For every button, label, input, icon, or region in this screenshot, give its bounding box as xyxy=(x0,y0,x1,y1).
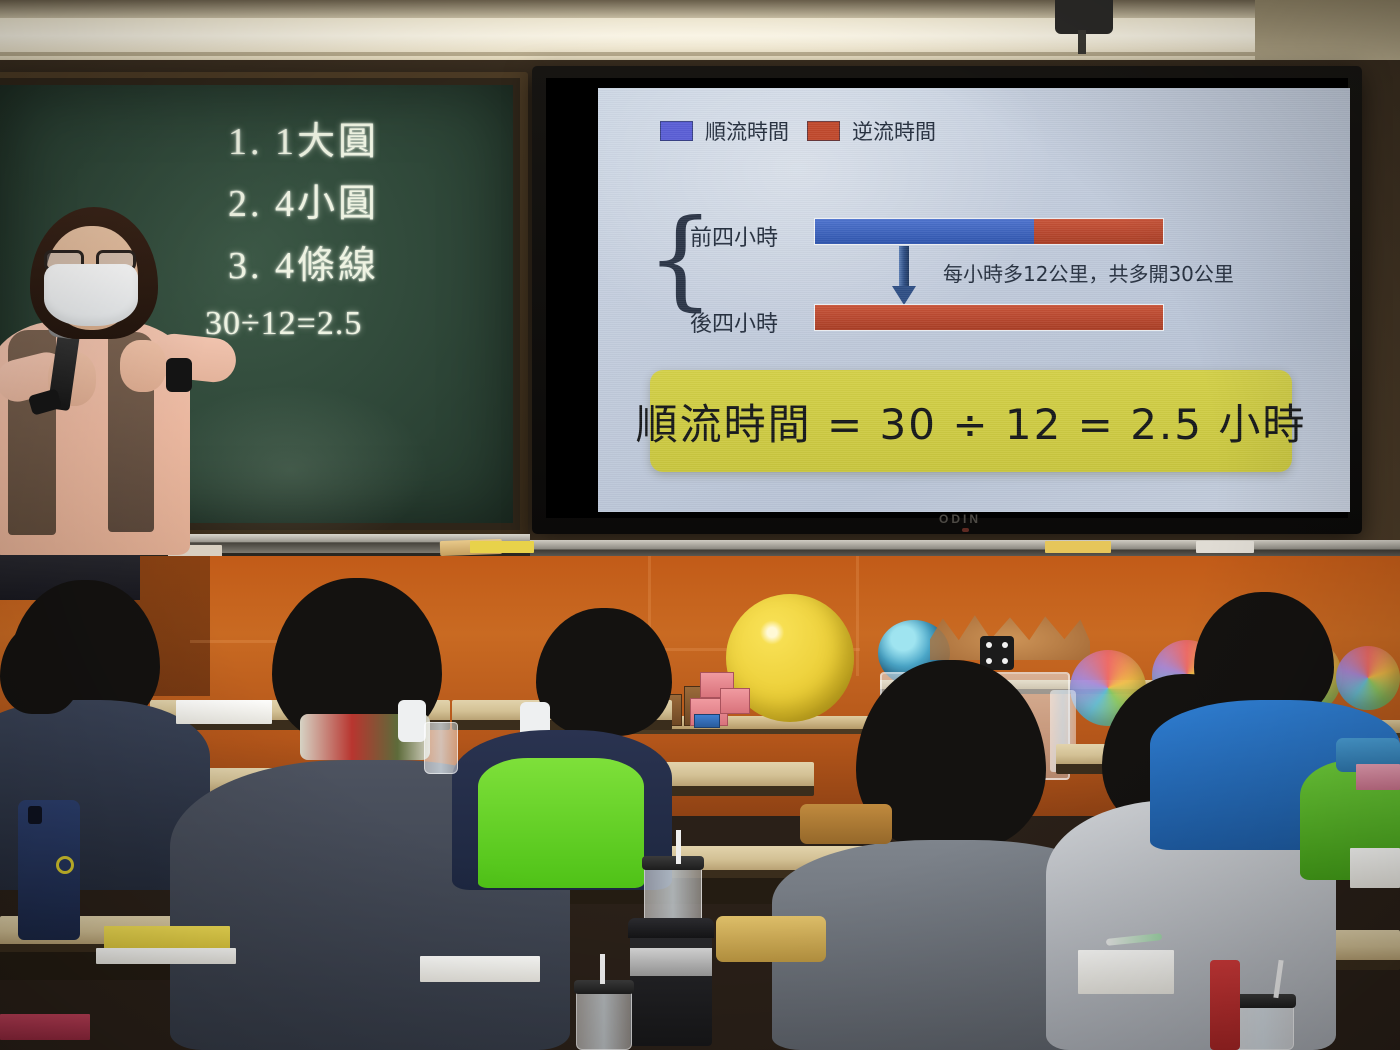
red-strap xyxy=(1210,960,1240,1050)
thermos-black xyxy=(630,920,712,1046)
chalkboard-line-4: 30÷12=2.5 xyxy=(205,305,362,343)
row-label-last-four-hours: 後四小時 xyxy=(690,306,778,338)
book-red xyxy=(0,1014,90,1040)
bar-segment-upstream-full xyxy=(815,305,1163,330)
chart-legend: 順流時間 逆流時間 xyxy=(660,116,936,146)
notebook-yellow xyxy=(104,926,230,950)
straw-lower-left xyxy=(600,954,605,984)
paper-stack xyxy=(96,948,236,964)
worksheet-row3 xyxy=(420,956,540,982)
bar-segment-upstream xyxy=(1034,219,1163,244)
projector-mount xyxy=(1055,0,1113,34)
chalkboard-sheen xyxy=(150,385,430,555)
tumbler-lower-left xyxy=(576,986,632,1050)
teacher-hand-right xyxy=(120,340,166,392)
dice xyxy=(980,636,1014,670)
student-mask xyxy=(398,700,426,742)
arrow-head xyxy=(892,286,916,305)
student-green-vest xyxy=(478,758,644,888)
cup-row1 xyxy=(424,722,458,774)
classroom-photo: 1. 1大圓 2. 4小圓 3. 4條線 30÷12=2.5 順流時間 逆流時間… xyxy=(0,0,1400,1050)
answer-box: 順流時間 = 30 ÷ 12 = 2.5 小時 xyxy=(650,370,1292,472)
tumbler-lid-center xyxy=(642,856,704,870)
pencil-case-row2 xyxy=(800,804,892,844)
presentation-slide: 順流時間 逆流時間 { 前四小時 每小時多12公里，共多開30公里 後四小時 xyxy=(598,88,1350,512)
down-arrow-icon xyxy=(892,246,916,306)
legend-item-upstream: 逆流時間 xyxy=(807,116,936,146)
television-power-led xyxy=(962,528,969,532)
wall-seam-2 xyxy=(856,556,859,676)
ledge-note-yellow xyxy=(470,541,534,553)
teacher-watch xyxy=(166,358,192,392)
legend-item-downstream: 順流時間 xyxy=(660,116,789,146)
legend-swatch-downstream xyxy=(660,121,693,141)
arrow-shaft xyxy=(899,246,909,288)
legend-label-downstream: 順流時間 xyxy=(705,116,789,146)
slide-annotation: 每小時多12公里，共多開30公里 xyxy=(943,258,1234,287)
ceiling-strip xyxy=(0,0,1400,18)
ledge-note-amber xyxy=(1045,541,1111,553)
bar-last-four-hours xyxy=(814,304,1164,331)
student-hair xyxy=(0,624,80,714)
wall-molding xyxy=(0,52,1400,56)
chalkboard-line-3: 3. 4條線 xyxy=(228,234,379,289)
straw-center xyxy=(676,830,681,864)
projector-rod xyxy=(1078,30,1086,54)
row-label-first-four-hours: 前四小時 xyxy=(690,220,778,252)
pink-block-3 xyxy=(720,688,750,714)
legend-label-upstream: 逆流時間 xyxy=(852,116,936,146)
chalkboard-line-2: 2. 4小圓 xyxy=(228,172,379,227)
notebook-right xyxy=(1078,950,1174,994)
thermos-cap-detail xyxy=(28,806,42,824)
ledge-note-white xyxy=(1196,541,1254,553)
legend-swatch-upstream xyxy=(807,121,840,141)
paper-right-edge xyxy=(1350,848,1400,888)
thermos-band xyxy=(630,948,712,976)
upper-right-panel xyxy=(1255,0,1400,60)
bar-first-four-hours xyxy=(814,218,1164,245)
rainbow-ball-4 xyxy=(1336,646,1400,710)
pencil-case-center xyxy=(716,916,826,962)
television-brand-logo: ODIN xyxy=(930,512,990,526)
worksheet-row1 xyxy=(176,700,272,724)
bar-segment-downstream xyxy=(815,219,1034,244)
answer-text: 順流時間 = 30 ÷ 12 = 2.5 小時 xyxy=(636,391,1307,452)
teacher-face-mask xyxy=(44,264,138,326)
curly-brace: { xyxy=(646,208,682,316)
blue-block-1 xyxy=(694,714,720,728)
book-pink-right xyxy=(1356,764,1400,790)
thermos-lid xyxy=(628,918,714,938)
chalkboard-line-1: 1. 1大圓 xyxy=(228,110,379,165)
thermos-logo xyxy=(56,856,74,874)
